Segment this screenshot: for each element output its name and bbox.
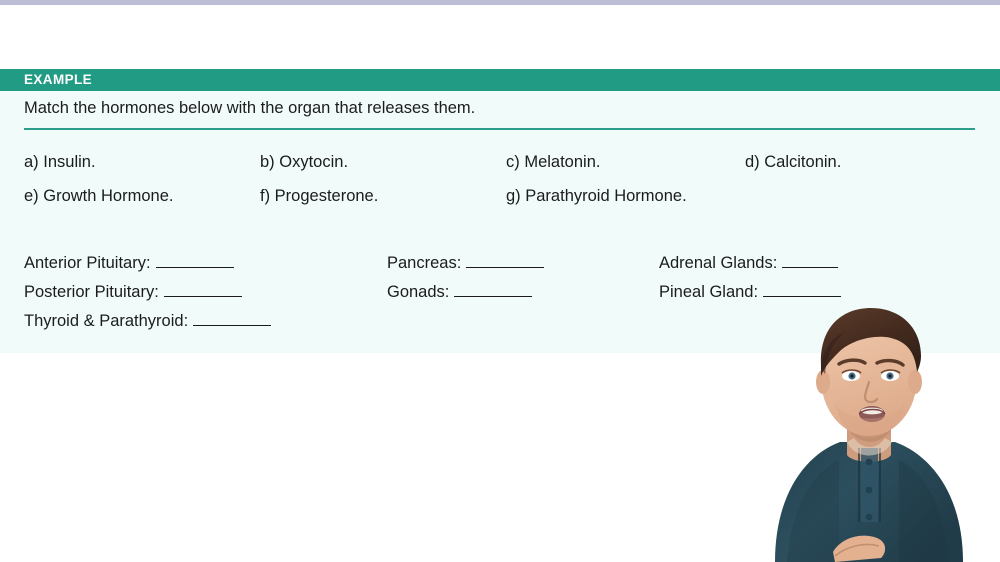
answer-label: Posterior Pituitary:	[24, 283, 159, 301]
option-item-c: c) Melatonin.	[506, 145, 600, 179]
example-header-bar: EXAMPLE	[0, 69, 1000, 91]
answer-anterior-pituitary: Anterior Pituitary:	[24, 249, 234, 278]
top-accent-strip	[0, 0, 1000, 5]
answer-label: Pancreas:	[387, 254, 461, 272]
option-item-e: e) Growth Hormone.	[24, 179, 173, 213]
shirt-button	[866, 514, 873, 521]
answer-adrenal-glands: Adrenal Glands:	[659, 249, 838, 278]
answer-gonads: Gonads:	[387, 278, 532, 307]
option-item-d: d) Calcitonin.	[745, 145, 841, 179]
answer-blank-posterior-pituitary[interactable]	[164, 283, 242, 297]
option-row: a) Insulin. b) Oxytocin. c) Melatonin. d…	[0, 145, 1000, 179]
option-row: e) Growth Hormone. f) Progesterone. g) P…	[0, 179, 1000, 213]
example-header-label: EXAMPLE	[0, 69, 92, 91]
option-item-b: b) Oxytocin.	[260, 145, 348, 179]
answer-row: Anterior Pituitary: Pancreas: Adrenal Gl…	[0, 249, 1000, 278]
answer-label: Adrenal Glands:	[659, 254, 777, 272]
shirt-button	[866, 487, 873, 494]
shirt-button	[866, 459, 873, 466]
answer-blank-gonads[interactable]	[454, 283, 532, 297]
answer-posterior-pituitary: Posterior Pituitary:	[24, 278, 242, 307]
presenter-illustration	[735, 290, 1000, 562]
answer-blank-thyroid-parathyroid[interactable]	[193, 312, 271, 326]
screen: EXAMPLE Match the hormones below with th…	[0, 0, 1000, 562]
answer-label: Anterior Pituitary:	[24, 254, 151, 272]
answer-thyroid-parathyroid: Thyroid & Parathyroid:	[24, 307, 271, 336]
answer-blank-adrenal-glands[interactable]	[782, 254, 838, 268]
hormone-options-list: a) Insulin. b) Oxytocin. c) Melatonin. d…	[0, 145, 1000, 213]
answer-label: Gonads:	[387, 283, 449, 301]
answer-pancreas: Pancreas:	[387, 249, 544, 278]
answer-label: Thyroid & Parathyroid:	[24, 312, 188, 330]
answer-blank-pancreas[interactable]	[466, 254, 544, 268]
option-item-f: f) Progesterone.	[260, 179, 378, 213]
presenter-video-overlay	[735, 290, 1000, 562]
example-prompt: Match the hormones below with the organ …	[24, 99, 475, 118]
option-item-a: a) Insulin.	[24, 145, 96, 179]
option-item-g: g) Parathyroid Hormone.	[506, 179, 687, 213]
answer-blank-anterior-pituitary[interactable]	[156, 254, 234, 268]
header-divider-rule	[24, 128, 975, 130]
